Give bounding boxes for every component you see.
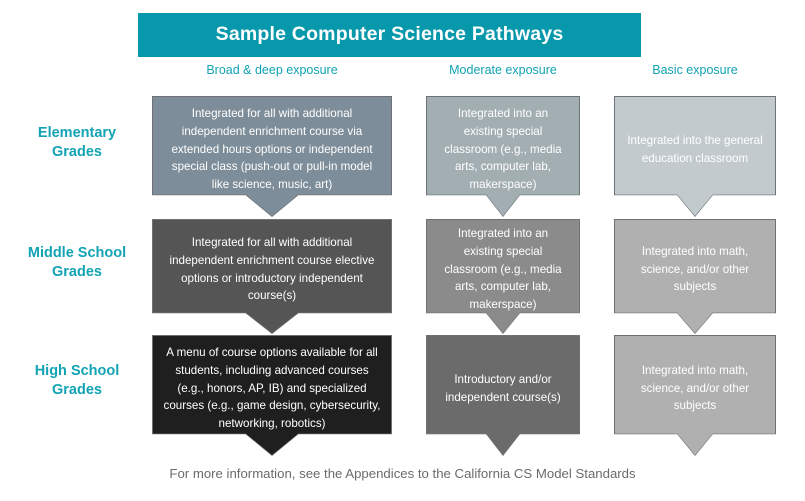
pathway-cell-text: Integrated for all with additional indep…	[163, 105, 381, 195]
pathway-cell-elementary-basic: Integrated into the general education cl…	[615, 97, 775, 216]
row-label-middle-school-grades: Middle School Grades	[4, 244, 150, 282]
row-label-elementary-grades: Elementary Grades	[4, 124, 150, 162]
column-header-basic-exposure: Basic exposure	[615, 63, 775, 78]
pathway-cell-text: Integrated into math, science, and/or ot…	[625, 362, 765, 416]
pathway-cell-high-broad: A menu of course options available for a…	[153, 336, 391, 455]
column-header-broad-deep-exposure: Broad & deep exposure	[153, 63, 391, 78]
pathway-cell-text: Integrated into math, science, and/or ot…	[625, 243, 765, 297]
pathway-cell-text: Integrated into an existing special clas…	[437, 105, 569, 195]
pathways-infographic: Sample Computer Science Pathways Broad &…	[0, 0, 805, 501]
pathway-cell-high-basic: Integrated into math, science, and/or ot…	[615, 336, 775, 455]
pathway-cell-elementary-broad: Integrated for all with additional indep…	[153, 97, 391, 216]
pathway-cell-text: Integrated for all with additional indep…	[163, 234, 381, 306]
title-banner: Sample Computer Science Pathways	[138, 13, 641, 57]
row-label-high-school-grades: High School Grades	[4, 362, 150, 400]
column-header-moderate-exposure: Moderate exposure	[427, 63, 579, 78]
pathway-cell-middle-broad: Integrated for all with additional indep…	[153, 220, 391, 333]
footer-note: For more information, see the Appendices…	[0, 466, 805, 481]
pathway-cell-elementary-moderate: Integrated into an existing special clas…	[427, 97, 579, 216]
pathway-cell-middle-basic: Integrated into math, science, and/or ot…	[615, 220, 775, 333]
pathway-cell-text: A menu of course options available for a…	[163, 344, 381, 434]
pathway-cell-high-moderate: Introductory and/or independent course(s…	[427, 336, 579, 455]
pathway-cell-text: Integrated into an existing special clas…	[437, 225, 569, 315]
pathway-cell-text: Introductory and/or independent course(s…	[437, 371, 569, 407]
pathway-cell-middle-moderate: Integrated into an existing special clas…	[427, 220, 579, 333]
pathway-cell-text: Integrated into the general education cl…	[625, 132, 765, 168]
page-title: Sample Computer Science Pathways	[216, 24, 564, 45]
